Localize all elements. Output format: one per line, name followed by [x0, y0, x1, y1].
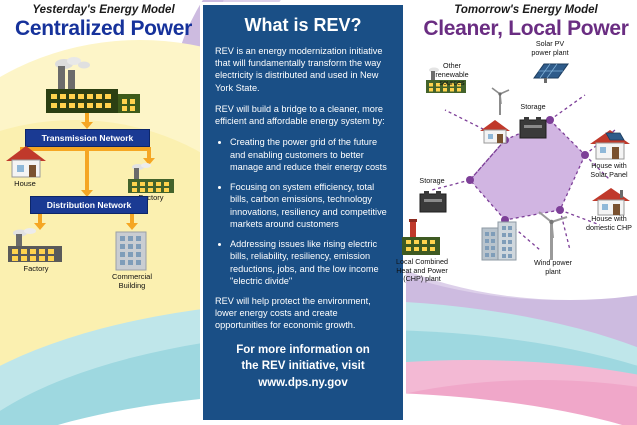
- label-storage-top: Storage: [510, 103, 556, 112]
- left-header: Yesterday's Energy Model Centralized Pow…: [6, 4, 201, 41]
- arrow-plant-to-transmission: [81, 122, 93, 129]
- left-subtitle: Yesterday's Energy Model: [6, 4, 201, 16]
- left-title: Centralized Power: [6, 17, 201, 41]
- distribution-network-bar: Distribution Network: [30, 196, 148, 214]
- panel-paragraph-1: REV is an energy modernization initiativ…: [215, 45, 391, 94]
- house-with-solar-panel-icon: [588, 128, 632, 162]
- panel-paragraph-2: REV will build a bridge to a cleaner, mo…: [215, 103, 391, 127]
- panel-bullet-2: Focusing on system efficiency, total bil…: [230, 181, 391, 230]
- infographic-page: Yesterday's Energy Model Centralized Pow…: [0, 0, 637, 425]
- panel-footer-line-2: the REV initiative, visit: [215, 358, 391, 375]
- panel-title: What is REV?: [215, 15, 391, 36]
- label-solar-pv-power-plant: Solar PV power plant: [518, 40, 582, 57]
- central-power-plant-icon: [38, 56, 148, 116]
- commercial-building-label: Commercial Building: [100, 273, 164, 290]
- right-subtitle: Tomorrow's Energy Model: [418, 4, 634, 16]
- other-renewable-sources: Other renewable sources: [418, 62, 486, 88]
- panel-footer: For more information on the REV initiati…: [215, 342, 391, 392]
- factory-icon-right: [124, 163, 178, 195]
- panel-footer-url[interactable]: www.dps.ny.gov: [215, 375, 391, 392]
- transmission-network-label: Transmission Network: [42, 133, 134, 143]
- house-icon-left: [4, 144, 48, 180]
- small-wind-turbine-icon: [488, 86, 512, 116]
- label-wind-power-plant: Wind power plant: [522, 259, 584, 276]
- label-storage-left: Storage: [408, 177, 456, 186]
- connector-transmission-down: [85, 147, 89, 191]
- house-label-left: House: [2, 180, 48, 189]
- label-house-with-domestic-chp: House with domestic CHP: [578, 215, 637, 232]
- factory-icon-bottom: [6, 228, 66, 264]
- commercial-building-icon: [110, 228, 152, 272]
- storage-icon-top: [518, 116, 548, 140]
- wind-turbine-icon: [534, 208, 570, 262]
- connector-transmission-to-factory: [85, 147, 151, 151]
- house-icon-network: [478, 118, 512, 146]
- panel-bullet-3: Addressing issues like rising electric b…: [230, 238, 391, 287]
- panel-footer-line-1: For more information on: [215, 342, 391, 359]
- solar-pv-plant-icon: [530, 58, 570, 84]
- storage-icon-left: [418, 190, 448, 214]
- label-house-with-solar-panel: House with Solar Panel: [580, 162, 637, 179]
- panel-bullet-list: Creating the power grid of the future an…: [215, 136, 391, 287]
- right-header: Tomorrow's Energy Model Cleaner, Local P…: [418, 4, 634, 41]
- chp-plant-icon: [398, 218, 444, 258]
- right-title: Cleaner, Local Power: [418, 17, 634, 41]
- panel-bullet-1: Creating the power grid of the future an…: [230, 136, 391, 173]
- rev-info-panel: What is REV? REV is an energy modernizat…: [200, 2, 406, 423]
- label-chp-plant: Local Combined Heat and Power (CHP) plan…: [386, 258, 458, 284]
- distribution-network-label: Distribution Network: [47, 200, 132, 210]
- office-building-icon-right: [478, 220, 520, 262]
- factory-label-bottom: Factory: [6, 265, 66, 274]
- panel-closing-paragraph: REV will help protect the environment, l…: [215, 295, 391, 332]
